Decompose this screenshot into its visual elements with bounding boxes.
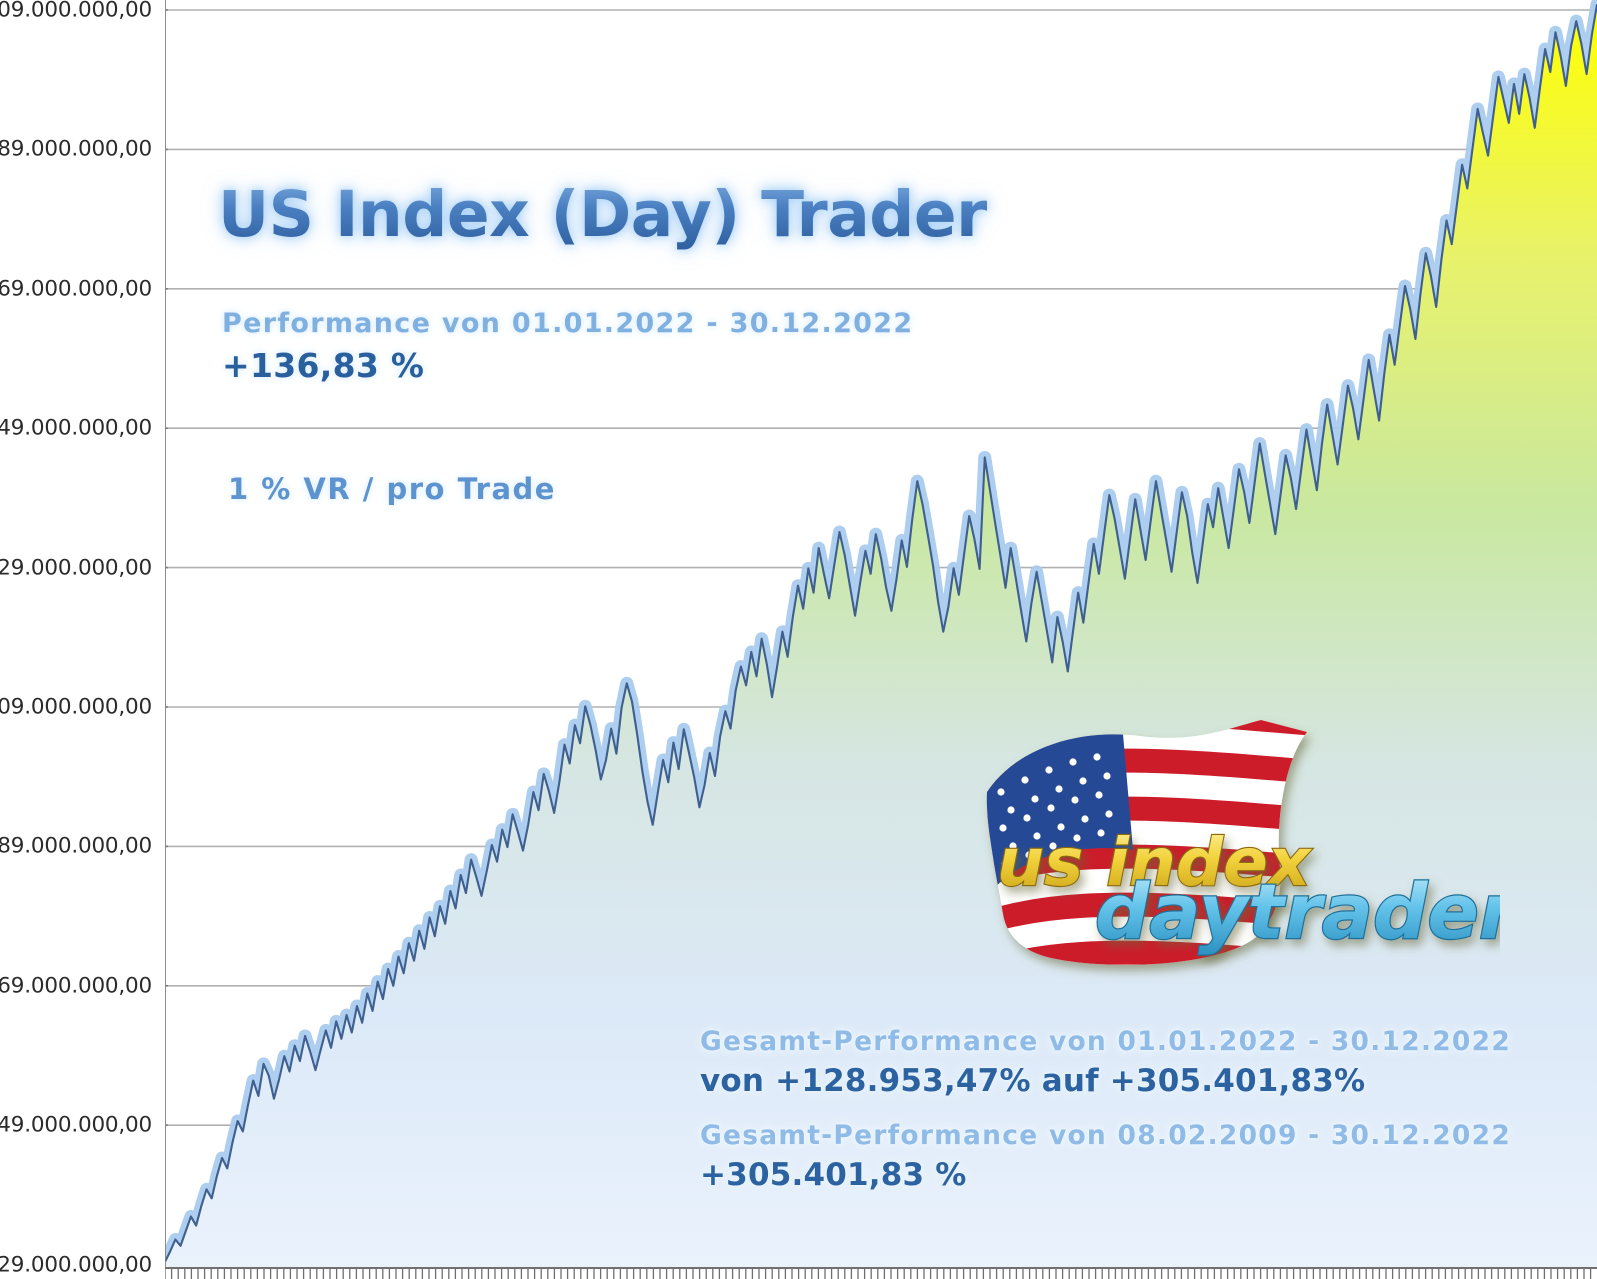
performance-block: Performance von 01.01.2022 - 30.12.2022 … — [222, 310, 913, 384]
risk-per-trade-label: 1 % VR / pro Trade — [228, 472, 556, 506]
performance-caption: Performance von 01.01.2022 - 30.12.2022 — [222, 310, 913, 338]
performance-value: +136,83 % — [222, 349, 913, 384]
y-axis-tick-label: 169.000.000,00 — [0, 973, 152, 998]
us-index-daytrader-logo: us index daytrader — [955, 700, 1500, 985]
y-axis-tick-label: 229.000.000,00 — [0, 555, 152, 580]
total-performance-caption-1: Gesamt-Performance von 01.01.2022 - 30.1… — [700, 1028, 1511, 1056]
total-performance-value-2: +305.401,83 % — [700, 1159, 1511, 1192]
y-axis-tick-label: 249.000.000,00 — [0, 416, 152, 441]
y-axis-tick-label: 289.000.000,00 — [0, 137, 152, 162]
summary-block: Gesamt-Performance von 01.01.2022 - 30.1… — [700, 1028, 1511, 1192]
page-title: US Index (Day) Trader — [218, 178, 987, 251]
y-axis-tick-label: 129.000.000,00 — [0, 1252, 152, 1277]
y-axis-tick-label: 269.000.000,00 — [0, 276, 152, 301]
total-performance-caption-2: Gesamt-Performance von 08.02.2009 - 30.1… — [700, 1122, 1511, 1150]
equity-chart: 309.000.000,00289.000.000,00269.000.000,… — [0, 0, 1597, 1279]
y-axis-tick-label: 149.000.000,00 — [0, 1113, 152, 1138]
risk-per-trade-block: 1 % VR / pro Trade — [228, 472, 556, 506]
y-axis-tick-label: 189.000.000,00 — [0, 834, 152, 859]
logo-text-bottom: daytrader — [1095, 867, 1500, 956]
y-axis-tick-label: 309.000.000,00 — [0, 0, 152, 23]
total-performance-value-1: von +128.953,47% auf +305.401,83% — [700, 1065, 1511, 1098]
y-axis-tick-label: 209.000.000,00 — [0, 695, 152, 720]
y-axis: 309.000.000,00289.000.000,00269.000.000,… — [0, 0, 152, 1279]
title-block: US Index (Day) Trader US Index (Day) Tra… — [218, 178, 987, 251]
x-axis — [165, 1268, 1597, 1279]
